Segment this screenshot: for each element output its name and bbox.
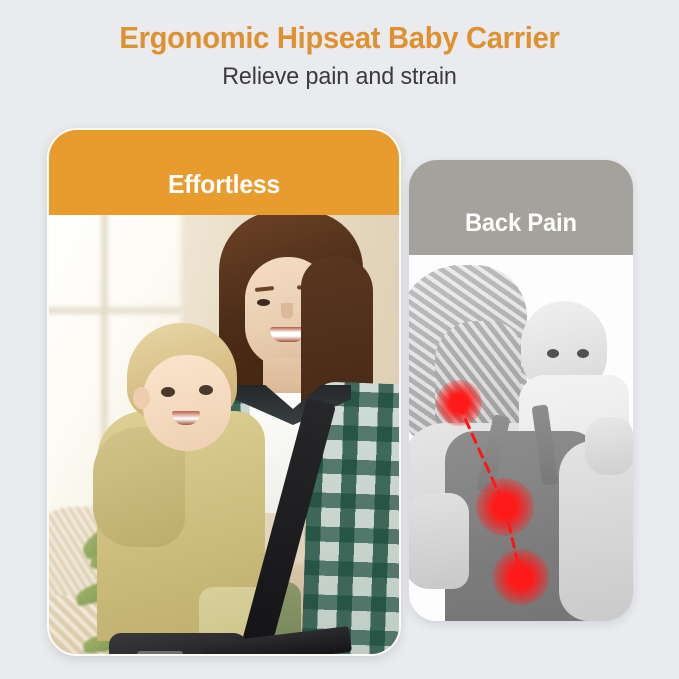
window-mullion-horizontal [49, 307, 181, 314]
pain-point-mid-back [476, 478, 534, 536]
baby-eye-right [199, 385, 213, 395]
back-pain-photo [409, 255, 633, 621]
comparison-panel-back-pain: Back Pain [409, 160, 633, 621]
effortless-photo [49, 215, 399, 654]
page-header: Ergonomic Hipseat Baby Carrier Relieve p… [0, 0, 679, 91]
back-pain-header-label: Back Pain [465, 209, 577, 238]
baby-eye-left [161, 387, 175, 397]
carrier-brand-label [137, 651, 183, 654]
baby-ear [133, 387, 150, 409]
pain-point-lower-back [493, 549, 549, 605]
mother-eye-left [257, 299, 270, 306]
effortless-header-label: Effortless [168, 169, 280, 200]
baby-face [143, 355, 231, 451]
back-pain-header: Back Pain [409, 160, 633, 255]
page-subtitle: Relieve pain and strain [10, 63, 669, 91]
mother-nose [281, 303, 293, 319]
effortless-header: Effortless [49, 130, 399, 215]
comparison-panel-effortless: Effortless [47, 128, 401, 656]
page-title: Ergonomic Hipseat Baby Carrier [20, 21, 658, 56]
pain-point-neck-shoulder [436, 380, 482, 426]
